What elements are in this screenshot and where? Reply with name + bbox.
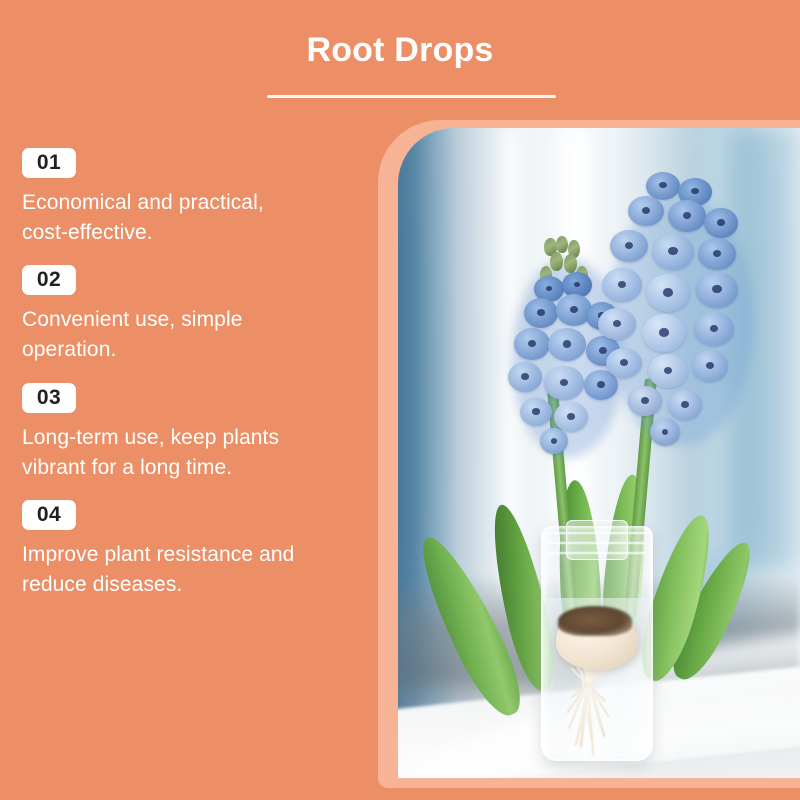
flower-bud [550,252,563,271]
feature-item: 02 Convenient use, simple operation. [22,265,372,365]
floret [668,200,706,232]
feature-number-badge: 03 [22,383,76,413]
floret [544,366,584,400]
jar-neck [566,520,628,560]
jar-thread [548,532,646,534]
floret [698,238,736,270]
feature-description: Economical and practical, cost-effective… [22,188,362,248]
floret [524,298,558,328]
floret [646,274,690,312]
floret [642,314,686,352]
floret [704,208,738,238]
jar-thread [548,542,646,544]
floret [602,268,642,302]
hyacinth-flower-spike [584,172,770,462]
feature-item: 01 Economical and practical, cost-effect… [22,148,372,248]
floret [628,386,662,416]
floret [540,428,568,454]
floret [650,418,680,446]
feature-description: Improve plant resistance and reduce dise… [22,540,362,600]
feature-description: Long-term use, keep plants vibrant for a… [22,423,362,483]
floret [606,348,642,378]
floret [652,234,694,270]
feature-number-badge: 01 [22,148,76,178]
floret [508,362,542,392]
product-photo [398,128,800,778]
feature-description: Convenient use, simple operation. [22,305,362,365]
floret [648,354,688,388]
feature-number-badge: 02 [22,265,76,295]
feature-number-badge: 04 [22,500,76,530]
floret [628,196,664,226]
floret [694,312,734,346]
bulb-skin [558,606,632,636]
jar-thread [548,552,646,554]
floret [514,328,550,360]
page-title: Root Drops [0,28,800,72]
floret [598,308,636,340]
flower-bud [564,254,577,273]
header: Root Drops [0,0,800,118]
title-divider [267,95,556,98]
feature-item: 03 Long-term use, keep plants vibrant fo… [22,383,372,483]
floret [548,328,586,361]
photo-canvas [398,128,800,778]
flower-bud [556,236,568,253]
floret [610,230,648,262]
floret [696,272,738,308]
feature-item: 04 Improve plant resistance and reduce d… [22,500,372,600]
floret [520,398,552,426]
floret [554,402,588,432]
floret [668,390,702,420]
floret [692,350,728,382]
poster-root: Root Drops 01 Economical and practical, … [0,0,800,800]
